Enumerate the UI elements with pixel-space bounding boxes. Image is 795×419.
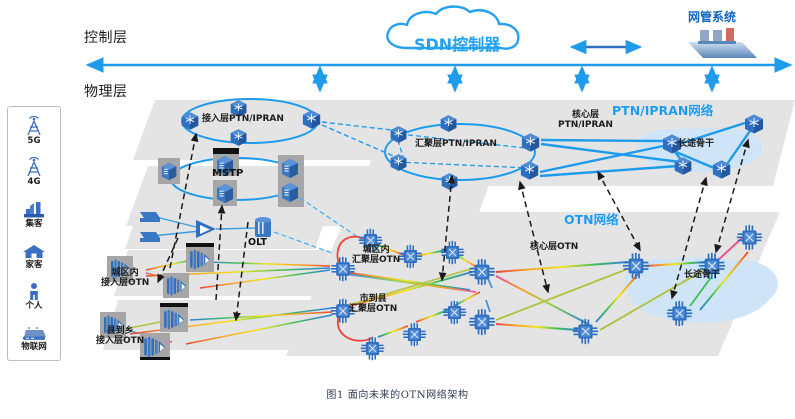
physical-layer-title: 物理层 bbox=[84, 81, 128, 101]
otn-access-city-label: 城区内 接入层OTN bbox=[101, 268, 149, 288]
legend-label: 4G bbox=[28, 178, 41, 187]
legend-item-iot[interactable]: 物联网 bbox=[8, 321, 60, 352]
ptn-access-layer-label: 接入层PTN/IPRAN bbox=[202, 114, 284, 124]
ptn-core-layer-label: 核心层 PTN/IPRAN bbox=[558, 110, 613, 130]
legend-item-personal[interactable]: 个人 bbox=[8, 280, 60, 311]
otn-agg-city-line2: 汇聚层OTN bbox=[352, 255, 400, 265]
network-architecture-diagram bbox=[0, 0, 795, 419]
nms-label: 网管系统 bbox=[688, 11, 736, 24]
service-legend-panel: 5G 4G 集客 bbox=[7, 106, 61, 361]
otn-network-title: OTN网络 bbox=[564, 213, 619, 227]
house-icon bbox=[22, 239, 46, 260]
otn-core-layer-label: 核心层OTN bbox=[530, 242, 578, 252]
otn-access-city-line1: 城区内 bbox=[112, 268, 139, 278]
iot-gateway-icon bbox=[21, 321, 47, 342]
mstp-node bbox=[217, 184, 233, 203]
control-to-physical-arrows bbox=[320, 68, 712, 90]
legend-label: 物联网 bbox=[21, 343, 47, 352]
otn-agg-city-to-county-label: 市到县 汇聚层OTN bbox=[349, 294, 397, 314]
mstp-label: MSTP bbox=[212, 168, 243, 179]
legend-label: 5G bbox=[28, 137, 41, 146]
ptn-core-line1: 核心层 bbox=[572, 110, 599, 120]
cell-tower-icon bbox=[23, 115, 45, 136]
legend-label: 个人 bbox=[25, 302, 42, 311]
otn-agg-c2c-line1: 市到县 bbox=[360, 294, 387, 304]
olt-icon bbox=[255, 217, 271, 237]
otn-access-site-marker bbox=[140, 357, 170, 360]
figure-canvas: 控制层 物理层 5G 4G bbox=[0, 0, 795, 419]
nms-server-icon bbox=[688, 28, 757, 58]
otn-access-county-line1: 县到乡 bbox=[107, 326, 134, 336]
sdn-controller-label: SDN控制器 bbox=[414, 36, 500, 54]
otn-agg-city-line1: 城区内 bbox=[363, 245, 390, 255]
legend-label: 集客 bbox=[25, 220, 42, 229]
olt-label: OLT bbox=[248, 238, 267, 249]
legend-item-5g[interactable]: 5G bbox=[8, 115, 60, 146]
legend-item-enterprise[interactable]: 集客 bbox=[8, 198, 60, 229]
figure-caption: 图1 面向未来的OTN网络架构 bbox=[0, 386, 795, 401]
otn-agg-c2c-line2: 汇聚层OTN bbox=[349, 304, 397, 314]
ptn-ipran-network-title: PTN/IPRAN网络 bbox=[612, 104, 713, 118]
otn-access-site-marker bbox=[160, 303, 188, 307]
otn-access-county-label: 县到乡 接入层OTN bbox=[96, 326, 144, 346]
legend-item-4g[interactable]: 4G bbox=[8, 156, 60, 187]
mstp-site-marker bbox=[213, 148, 239, 154]
ptn-core-line2: PTN/IPRAN bbox=[558, 120, 613, 130]
otn-long-haul-label: 长途骨干 bbox=[684, 270, 720, 280]
cell-tower-icon bbox=[23, 156, 45, 177]
person-icon bbox=[27, 280, 41, 301]
legend-label: 家客 bbox=[25, 261, 42, 270]
otn-agg-city-label: 城区内 汇聚层OTN bbox=[352, 245, 400, 265]
otn-access-site-marker bbox=[186, 243, 214, 247]
ptn-long-haul-label: 长途骨干 bbox=[678, 139, 714, 149]
otn-access-county-line2: 接入层OTN bbox=[96, 336, 144, 346]
otn-access-city-line2: 接入层OTN bbox=[101, 278, 149, 288]
control-layer-title: 控制层 bbox=[84, 27, 128, 47]
factory-building-icon bbox=[22, 198, 46, 219]
long-haul-cloud-upper bbox=[638, 128, 762, 172]
mstp-node bbox=[282, 183, 298, 202]
ptn-aggregation-layer-label: 汇聚层PTN/IPRAN bbox=[415, 139, 497, 149]
mstp-node bbox=[282, 159, 298, 178]
legend-item-home[interactable]: 家客 bbox=[8, 239, 60, 270]
mstp-node bbox=[162, 163, 177, 180]
